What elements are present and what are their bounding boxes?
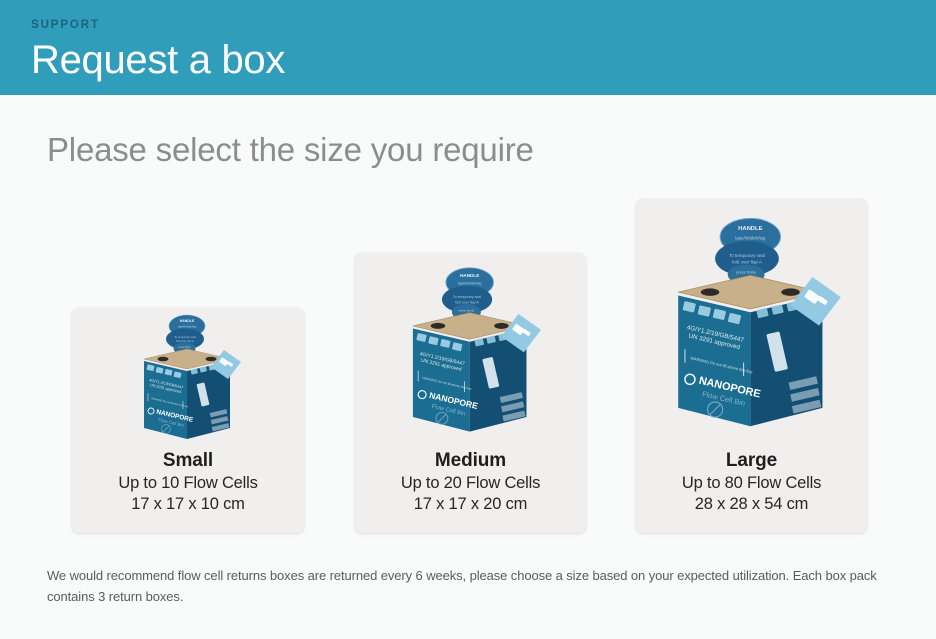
flow-cell-bin-box-icon: HANDLE tape/fix/stick/tag To temporary s… xyxy=(401,265,541,437)
svg-text:To temporary seal: To temporary seal xyxy=(452,295,480,299)
svg-text:HANDLE: HANDLE xyxy=(460,273,479,278)
page-header: SUPPORT Request a box xyxy=(0,0,936,95)
page-title: Request a box xyxy=(31,34,936,86)
box-option-text-small: Small Up to 10 Flow Cells 17 x 17 x 10 c… xyxy=(72,448,304,533)
box-graphic: HANDLE tape/fix/stick/tag To temporary s… xyxy=(401,265,541,437)
box-option-text-large: Large Up to 80 Flow Cells 28 x 28 x 54 c… xyxy=(636,448,867,533)
box-option-text-medium: Medium Up to 20 Flow Cells 17 x 17 x 20 … xyxy=(355,448,586,533)
svg-text:fold over flap A: fold over flap A xyxy=(176,339,194,343)
box-illustration-large: HANDLE tape/fix/stick/tag To temporary s… xyxy=(636,199,867,448)
svg-text:fold over flap A: fold over flap A xyxy=(455,300,479,304)
box-option-capacity: Up to 10 Flow Cells xyxy=(72,473,304,494)
flow-cell-bin-box-icon: HANDLE tape/fix/stick/tag To temporary s… xyxy=(663,215,841,433)
svg-text:To temporary seal: To temporary seal xyxy=(729,252,765,257)
svg-text:tape/fix/stick/tag: tape/fix/stick/tag xyxy=(178,326,197,329)
box-size-options: HANDLE tape/fix/stick/tag To temporary s… xyxy=(0,95,936,555)
svg-text:HANDLE: HANDLE xyxy=(738,226,763,232)
box-illustration-small: HANDLE tape/fix/stick/tag To temporary s… xyxy=(72,308,304,448)
footnote-text: We would recommend flow cell returns box… xyxy=(47,565,892,607)
flow-cell-bin-box-icon: HANDLE tape/fix/stick/tag To temporary s… xyxy=(135,313,241,443)
svg-text:fold over flap A: fold over flap A xyxy=(732,259,762,264)
svg-text:HANDLE: HANDLE xyxy=(180,319,195,323)
svg-text:press firmly: press firmly xyxy=(458,308,474,312)
box-option-capacity: Up to 80 Flow Cells xyxy=(636,473,867,494)
box-option-capacity: Up to 20 Flow Cells xyxy=(355,473,586,494)
box-option-medium[interactable]: HANDLE tape/fix/stick/tag To temporary s… xyxy=(355,253,586,533)
box-option-name: Medium xyxy=(355,448,586,473)
box-option-name: Large xyxy=(636,448,867,473)
box-illustration-medium: HANDLE tape/fix/stick/tag To temporary s… xyxy=(355,253,586,448)
box-option-name: Small xyxy=(72,448,304,473)
box-option-large[interactable]: HANDLE tape/fix/stick/tag To temporary s… xyxy=(636,199,867,533)
svg-text:To temporary seal: To temporary seal xyxy=(174,335,196,339)
svg-text:press firmly: press firmly xyxy=(736,270,756,274)
box-option-dimensions: 28 x 28 x 54 cm xyxy=(636,494,867,515)
box-graphic: HANDLE tape/fix/stick/tag To temporary s… xyxy=(135,313,241,443)
page-body: Please select the size you require HANDL… xyxy=(0,95,936,639)
svg-text:tape/fix/stick/tag: tape/fix/stick/tag xyxy=(735,235,766,240)
box-option-dimensions: 17 x 17 x 10 cm xyxy=(72,494,304,515)
request-a-box-page: SUPPORT Request a box Please select the … xyxy=(0,0,936,639)
box-option-small[interactable]: HANDLE tape/fix/stick/tag To temporary s… xyxy=(72,308,304,533)
box-option-dimensions: 17 x 17 x 20 cm xyxy=(355,494,586,515)
svg-text:tape/fix/stick/tag: tape/fix/stick/tag xyxy=(457,281,481,285)
header-eyebrow: SUPPORT xyxy=(31,18,936,32)
box-graphic: HANDLE tape/fix/stick/tag To temporary s… xyxy=(663,215,841,433)
